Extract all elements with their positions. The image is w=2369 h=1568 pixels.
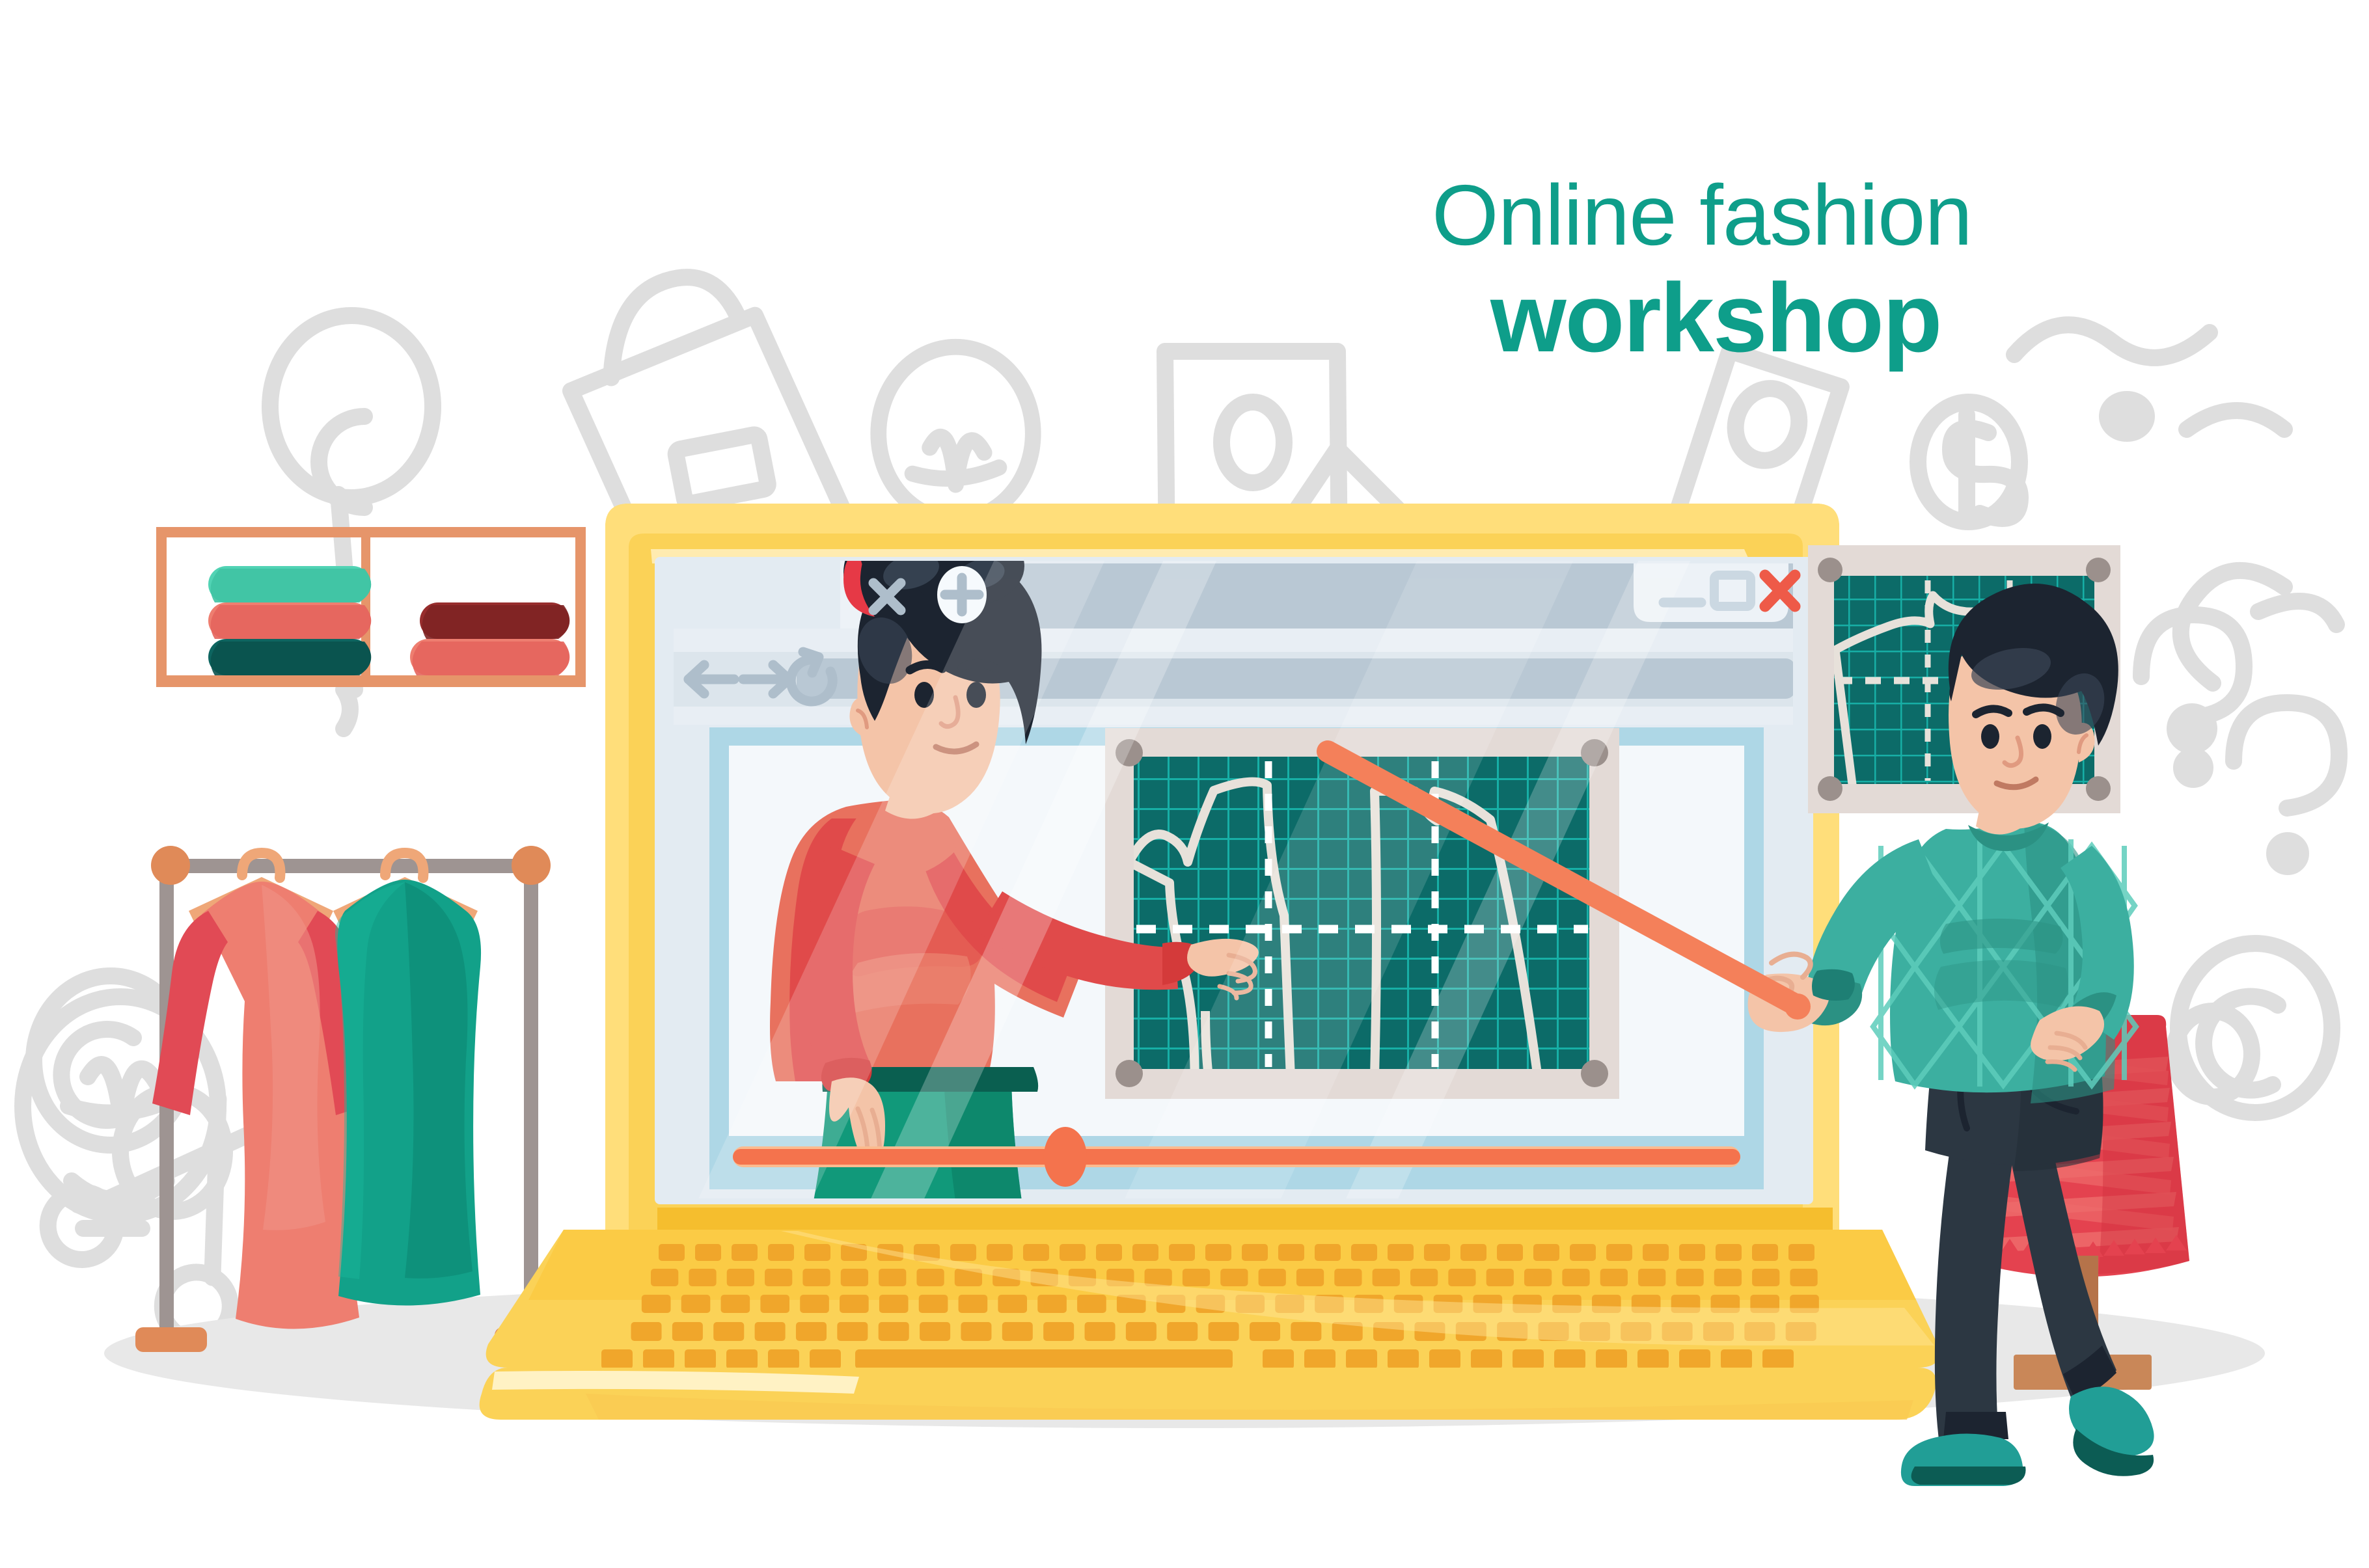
video-scrubber <box>1044 1127 1087 1187</box>
dollar-coin-icon <box>1918 402 2020 522</box>
wall-shelf <box>156 527 586 687</box>
shelf-stack-right <box>410 602 569 675</box>
headline-line-1: Online fashion <box>1432 167 1972 263</box>
illustration-canvas: Online fashion workshop Online fashion w… <box>0 0 2369 1568</box>
spacebar <box>855 1349 1233 1369</box>
shelf-stack-left <box>208 566 371 675</box>
page-title: Online fashion workshop <box>1432 167 1972 372</box>
headline-line-2: workshop <box>1490 263 1941 372</box>
list-item <box>333 853 481 1306</box>
thread-spool-icon <box>2014 325 2284 433</box>
question-mark-icon <box>2234 703 2339 867</box>
